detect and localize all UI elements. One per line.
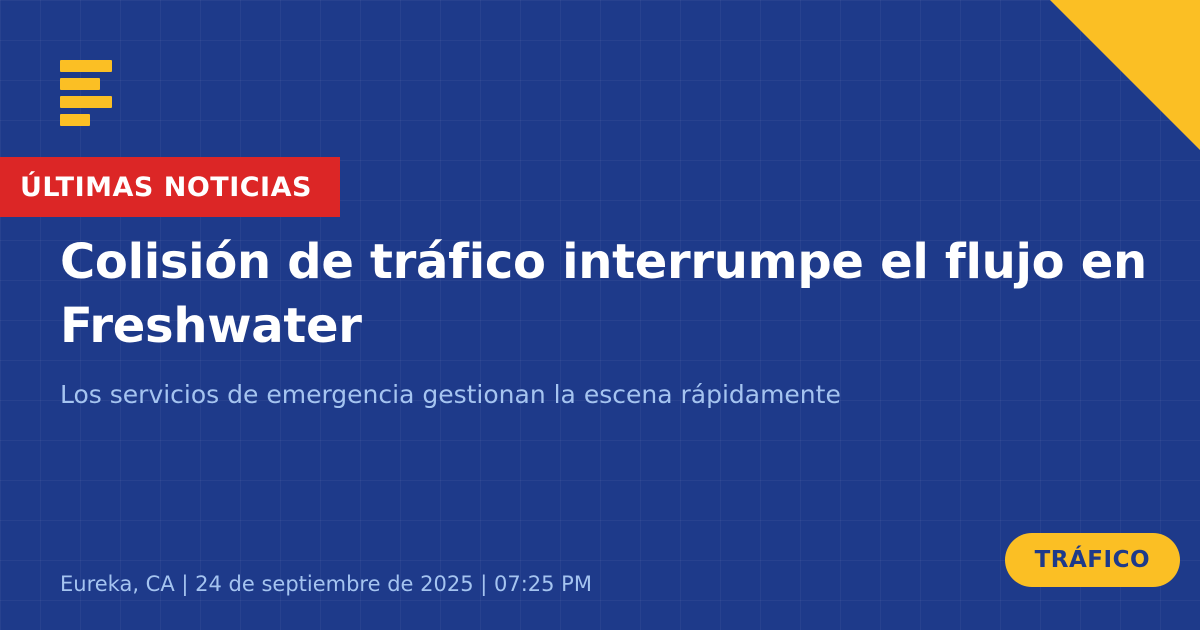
category-badge: TRÁFICO <box>1005 533 1180 587</box>
brand-logo <box>60 60 112 126</box>
meta-line: Eureka, CA | 24 de septiembre de 2025 | … <box>60 572 592 596</box>
logo-bar-2 <box>60 78 100 90</box>
breaking-news-card: ÚLTIMAS NOTICIAS Colisión de tráfico int… <box>0 0 1200 630</box>
card-content: ÚLTIMAS NOTICIAS Colisión de tráfico int… <box>0 0 1200 630</box>
subtitle: Los servicios de emergencia gestionan la… <box>60 378 1060 412</box>
logo-bar-1 <box>60 60 112 72</box>
breaking-news-badge: ÚLTIMAS NOTICIAS <box>0 157 340 217</box>
logo-bar-3 <box>60 96 112 108</box>
headline: Colisión de tráfico interrumpe el flujo … <box>60 230 1150 358</box>
logo-bar-4 <box>60 114 90 126</box>
